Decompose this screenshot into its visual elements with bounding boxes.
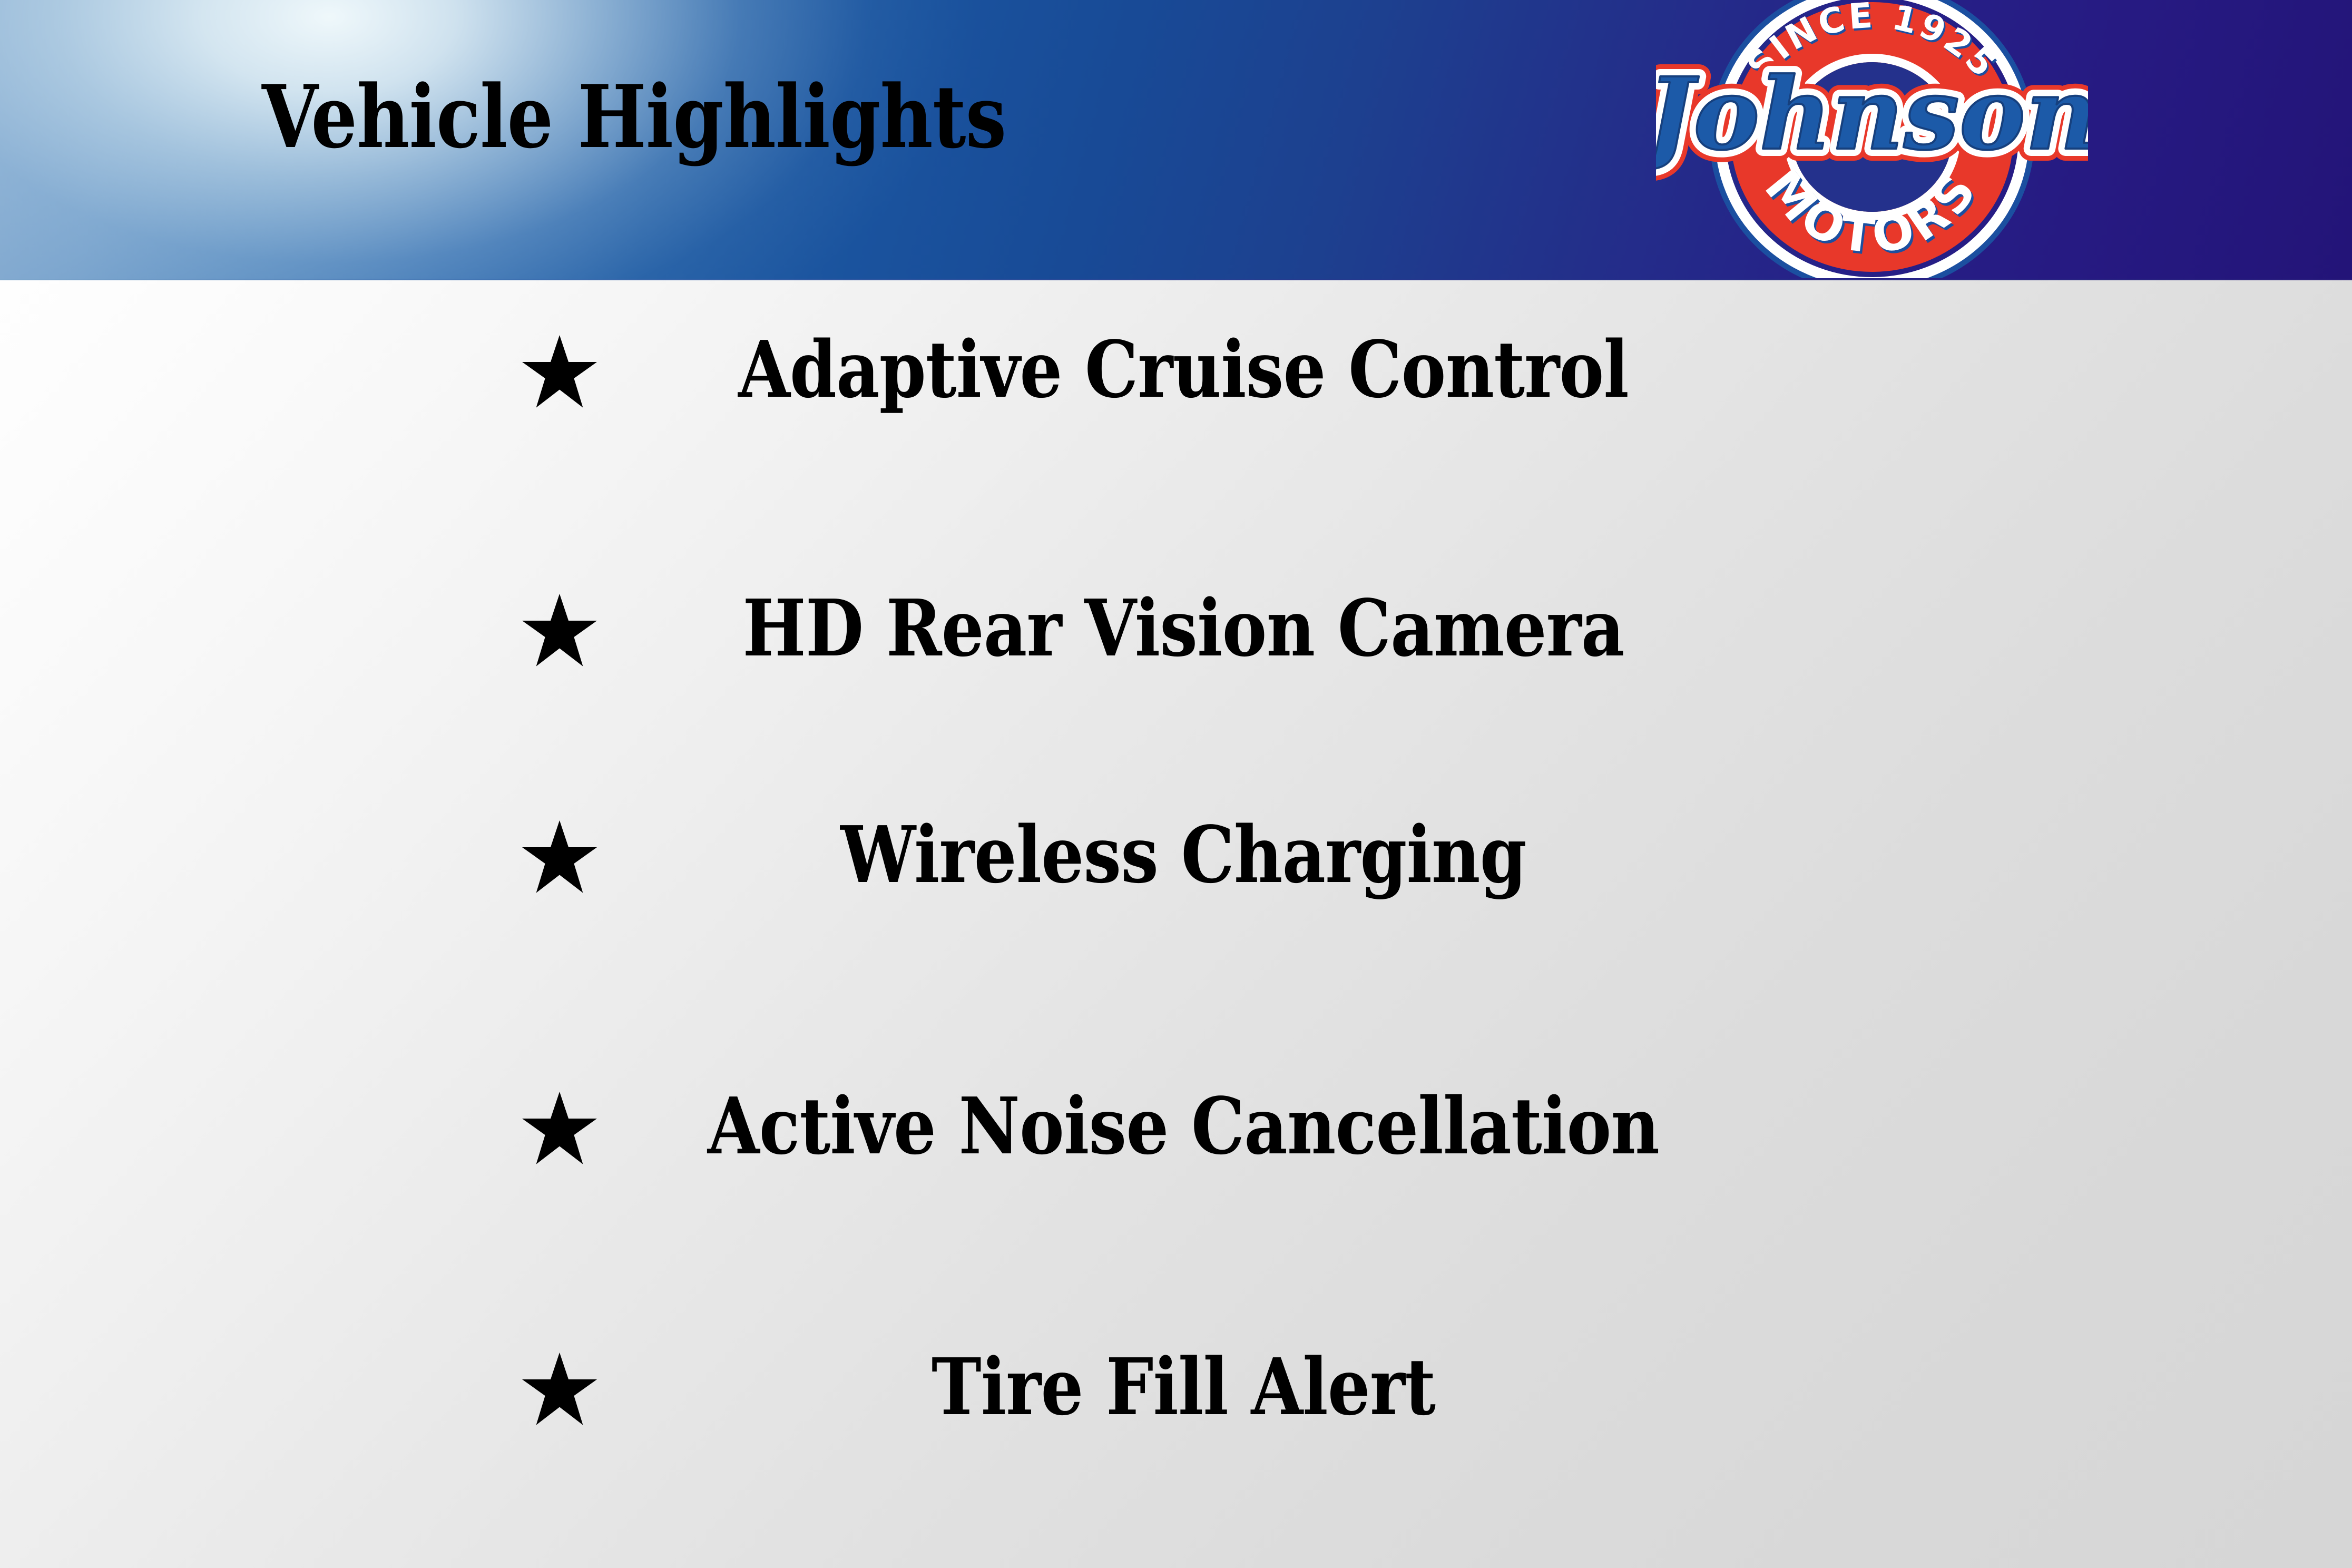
list-item-label: Wireless Charging — [840, 812, 1526, 897]
presentation-slide: SINCE 1925 SINCE 1925 MOTORS MOTORS — [0, 0, 2352, 1568]
list-item-label: Tire Fill Alert — [932, 1345, 1435, 1429]
list-item-label: Active Noise Cancellation — [708, 1084, 1659, 1168]
star-icon — [521, 592, 599, 670]
star-icon — [521, 334, 599, 411]
highlights-list: Adaptive Cruise Control HD Rear Vision C… — [0, 0, 2352, 1568]
list-item-label: HD Rear Vision Camera — [742, 586, 1624, 670]
list-item-label: Adaptive Cruise Control — [738, 327, 1629, 411]
star-icon — [521, 819, 599, 897]
star-icon — [521, 1090, 599, 1168]
star-icon — [521, 1351, 599, 1429]
